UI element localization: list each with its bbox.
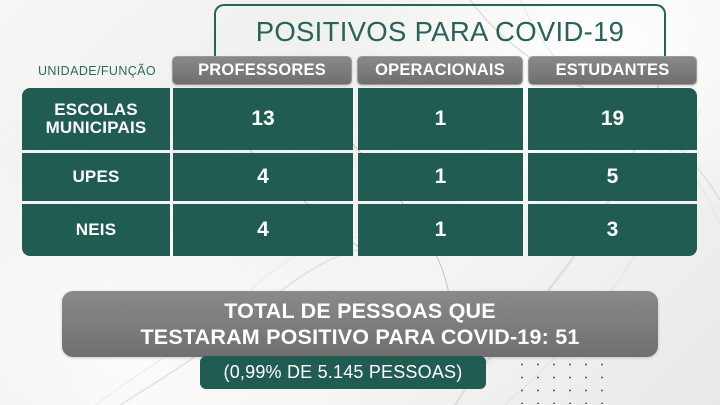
column-header-professores: PROFESSORES <box>172 56 352 85</box>
corner-header-label: UNIDADE/FUNÇÃO <box>24 58 170 84</box>
table-row-label: NEIS <box>22 204 170 256</box>
data-table: ESCOLAS MUNICIPAIS 13 1 19 UPES 4 1 5 NE… <box>22 88 697 256</box>
cell-neis-professores: 4 <box>173 204 353 256</box>
total-line-1: TOTAL DE PESSOAS QUE <box>224 298 496 324</box>
cell-escolas-professores: 13 <box>173 88 353 150</box>
row-label-line1: ESCOLAS <box>46 101 147 119</box>
row-label-line2: MUNICIPAIS <box>46 119 147 137</box>
cell-neis-operacionais: 1 <box>358 204 523 256</box>
total-line-2: TESTARAM POSITIVO PARA COVID-19: 51 <box>140 324 579 350</box>
dot-grid-decoration <box>512 356 604 404</box>
infographic-canvas: POSITIVOS PARA COVID-19 UNIDADE/FUNÇÃO P… <box>0 0 720 405</box>
column-header-operacionais: OPERACIONAIS <box>357 56 523 85</box>
cell-escolas-estudantes: 19 <box>528 88 697 150</box>
total-summary-banner: TOTAL DE PESSOAS QUE TESTARAM POSITIVO P… <box>62 291 658 357</box>
column-header-estudantes: ESTUDANTES <box>528 56 697 85</box>
table-row-label: UPES <box>22 153 170 201</box>
title-frame: POSITIVOS PARA COVID-19 <box>214 4 666 56</box>
cell-upes-estudantes: 5 <box>528 153 697 201</box>
table-row-label: ESCOLAS MUNICIPAIS <box>22 88 170 150</box>
row-label-line1: NEIS <box>76 221 116 239</box>
row-label-line1: UPES <box>72 168 119 186</box>
cell-upes-operacionais: 1 <box>358 153 523 201</box>
page-title: POSITIVOS PARA COVID-19 <box>256 16 625 48</box>
cell-escolas-operacionais: 1 <box>358 88 523 150</box>
cell-upes-professores: 4 <box>173 153 353 201</box>
percentage-badge: (0,99% DE 5.145 PESSOAS) <box>200 356 486 389</box>
cell-neis-estudantes: 3 <box>528 204 697 256</box>
